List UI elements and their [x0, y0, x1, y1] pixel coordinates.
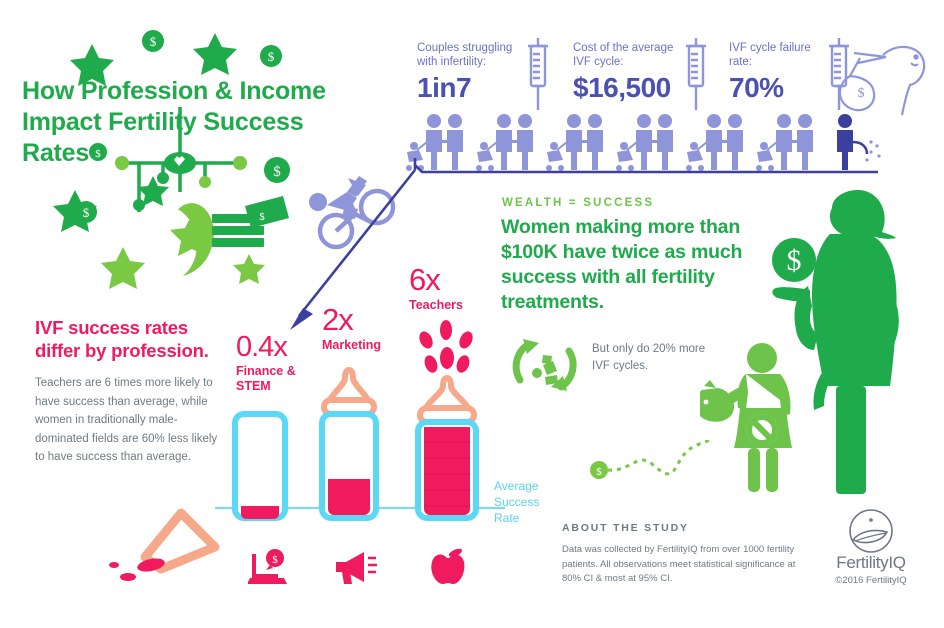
stat-caption: Couples struggling with infertility: [417, 41, 522, 69]
about-body: Data was collected by FertilityIQ from o… [562, 543, 810, 587]
svg-text:$: $ [83, 205, 90, 220]
pregnant-woman-with-coin-icon: $ [770, 190, 944, 530]
star-icon [53, 190, 97, 232]
svg-text:$: $ [596, 466, 602, 478]
dollar-coin-icon: $ [75, 201, 97, 223]
mobile-bead [199, 176, 211, 188]
ivf-cycles-note: But only do 20% more IVF cycles. [592, 341, 712, 375]
star-icon [170, 214, 214, 256]
svg-text:$: $ [272, 554, 278, 566]
svg-text:$: $ [259, 211, 265, 223]
ivf-body-text: Teachers are 6 times more likely to have… [35, 374, 220, 467]
moon-icon [178, 203, 214, 276]
bar-category-label: Teachers [409, 298, 489, 313]
stork-with-money-bundle-icon: $ [836, 33, 940, 123]
bottle-marketing [316, 366, 382, 524]
bottle-fill [241, 506, 279, 519]
stat-caption: IVF cycle failure rate: [729, 41, 829, 69]
average-success-rate-label: Average Success Rate [494, 478, 554, 526]
arrow-head [523, 339, 539, 354]
bottle-teachers [404, 318, 494, 524]
baseline-connector [400, 150, 880, 180]
baby-glyph [532, 355, 558, 385]
stat-failure: IVF cycle failure rate: 70% [729, 41, 829, 104]
bottle-fill [328, 479, 370, 515]
spray-drops-icon [417, 320, 475, 375]
about-title: ABOUT THE STUDY [562, 522, 689, 534]
logo-name: FertilityIQ [806, 553, 936, 573]
apple-icon [428, 548, 468, 588]
stat-value: $16,500 [573, 72, 688, 104]
cyclist-body-icon [309, 176, 367, 219]
bar-category-label: Finance & STEM [236, 364, 306, 393]
logo-copyright: ©2016 FertilityIQ [806, 575, 936, 586]
infographic-canvas: $ $ $ $ $ [0, 0, 944, 628]
bar-value-label: 2x [322, 304, 402, 336]
spill-drops [109, 556, 166, 581]
recycle-baby-icon [505, 325, 585, 405]
bar-value-label: 0.4x [236, 332, 306, 362]
stat-couples: Couples struggling with infertility: 1in… [417, 41, 522, 104]
bar-marketing: 2x Marketing [322, 304, 402, 353]
svg-text:$: $ [787, 244, 802, 277]
dollar-coin-icon: $ [772, 238, 816, 282]
dollar-coin-icon: $ [142, 30, 164, 52]
stat-value: 70% [729, 72, 829, 104]
fertilityiq-hand-logo-icon [843, 508, 899, 554]
mobile-bead [133, 199, 145, 211]
mobile-bead [157, 172, 169, 184]
bottle-fill [424, 427, 470, 515]
bar-teachers: 6x Teachers [409, 264, 489, 313]
svg-text:$: $ [268, 49, 275, 64]
cyclist-icon [320, 191, 393, 247]
bottle-nipple-icon [324, 370, 374, 414]
page-title: How Profession & Income Impact Fertility… [22, 76, 372, 169]
bar-finance-stem: 0.4x Finance & STEM [236, 332, 306, 393]
bar-value-label: 6x [409, 264, 489, 296]
stat-value: 1in7 [417, 72, 522, 104]
bottle-finance-stem [230, 408, 294, 523]
dollar-coin-icon: $ [260, 45, 282, 67]
bottle-nipple-icon [420, 378, 474, 422]
star-icon [137, 176, 169, 206]
megaphone-icon [334, 550, 378, 586]
dollar-coin-icon: $ [590, 461, 608, 479]
svg-text:$: $ [150, 34, 157, 49]
stat-cost: Cost of the average IVF cycle: $16,500 [573, 41, 688, 104]
laptop-dollar-icon: $ [248, 548, 288, 588]
syringe-icon [678, 36, 718, 111]
wealth-headline: Women making more than $100K have twice … [501, 215, 776, 315]
wealth-kicker: WEALTH = SUCCESS [502, 197, 654, 209]
syringe-icon [520, 36, 560, 111]
ivf-headline: IVF success rates differ by profession. [35, 316, 230, 362]
star-icon [193, 33, 237, 75]
bar-category-label: Marketing [322, 338, 402, 353]
star-icon [233, 254, 265, 284]
money-stack-icon: $ [212, 196, 289, 247]
star-icon [101, 247, 145, 289]
svg-text:$: $ [858, 86, 865, 101]
stat-caption: Cost of the average IVF cycle: [573, 41, 688, 69]
